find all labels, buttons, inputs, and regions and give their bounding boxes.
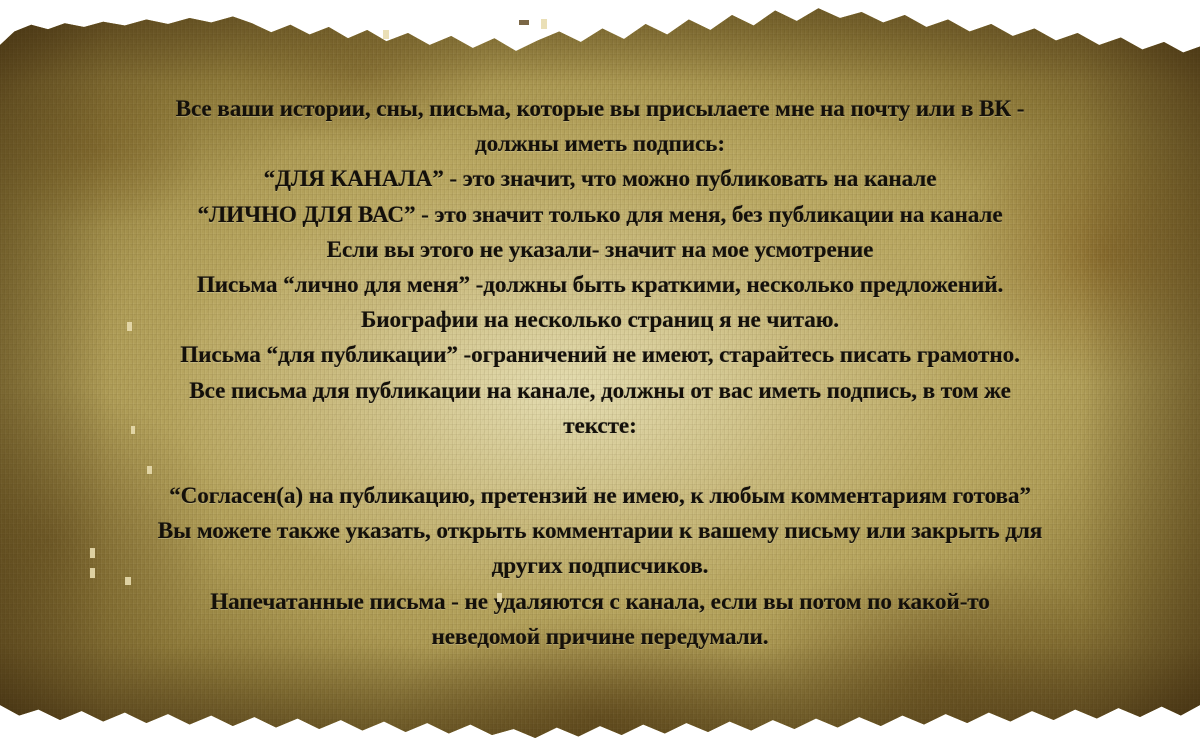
notice-line: должны иметь подпись: bbox=[28, 127, 1172, 162]
notice-line: Если вы этого не указали- значит на мое … bbox=[28, 233, 1172, 268]
notice-body: Все ваши истории, сны, письма, которые в… bbox=[28, 92, 1172, 655]
notice-line: “Согласен(а) на публикацию, претензий не… bbox=[28, 479, 1172, 514]
paper-fleck bbox=[147, 466, 152, 474]
notice-line: Вы можете также указать, открыть коммент… bbox=[28, 514, 1172, 549]
notice-line: Все ваши истории, сны, письма, которые в… bbox=[28, 92, 1172, 127]
notice-line: других подписчиков. bbox=[28, 549, 1172, 584]
paper-fleck bbox=[127, 322, 132, 331]
paper-fleck bbox=[519, 20, 529, 25]
paper-fleck bbox=[383, 30, 389, 39]
notice-line: Письма “лично для меня” -должны быть кра… bbox=[28, 268, 1172, 303]
paper-fleck bbox=[131, 426, 135, 434]
notice-line: тексте: bbox=[28, 409, 1172, 444]
notice-text-layer: Все ваши истории, сны, письма, которые в… bbox=[0, 0, 1200, 750]
paper-fleck bbox=[90, 568, 95, 578]
notice-line: “ЛИЧНО ДЛЯ ВАС” - это значит только для … bbox=[28, 198, 1172, 233]
notice-line: Все письма для публикации на канале, дол… bbox=[28, 374, 1172, 409]
notice-line: Биографии на несколько страниц я не чита… bbox=[28, 303, 1172, 338]
notice-paragraph-1: Все ваши истории, сны, письма, которые в… bbox=[28, 92, 1172, 444]
screenshot-canvas: Все ваши истории, сны, письма, которые в… bbox=[0, 0, 1200, 750]
notice-line: Письма “для публикации” -ограничений не … bbox=[28, 338, 1172, 373]
paper-fleck bbox=[90, 548, 95, 558]
notice-line: “ДЛЯ КАНАЛА” - это значит, что можно пуб… bbox=[28, 162, 1172, 197]
notice-paragraph-2: “Согласен(а) на публикацию, претензий не… bbox=[28, 479, 1172, 655]
paragraph-spacer bbox=[28, 444, 1172, 479]
paper-fleck bbox=[497, 593, 502, 602]
paper-fleck bbox=[125, 577, 131, 585]
notice-line: Напечатанные письма - не удаляются с кан… bbox=[28, 585, 1172, 620]
notice-line: неведомой причине передумали. bbox=[28, 620, 1172, 655]
paper-fleck bbox=[541, 19, 547, 29]
